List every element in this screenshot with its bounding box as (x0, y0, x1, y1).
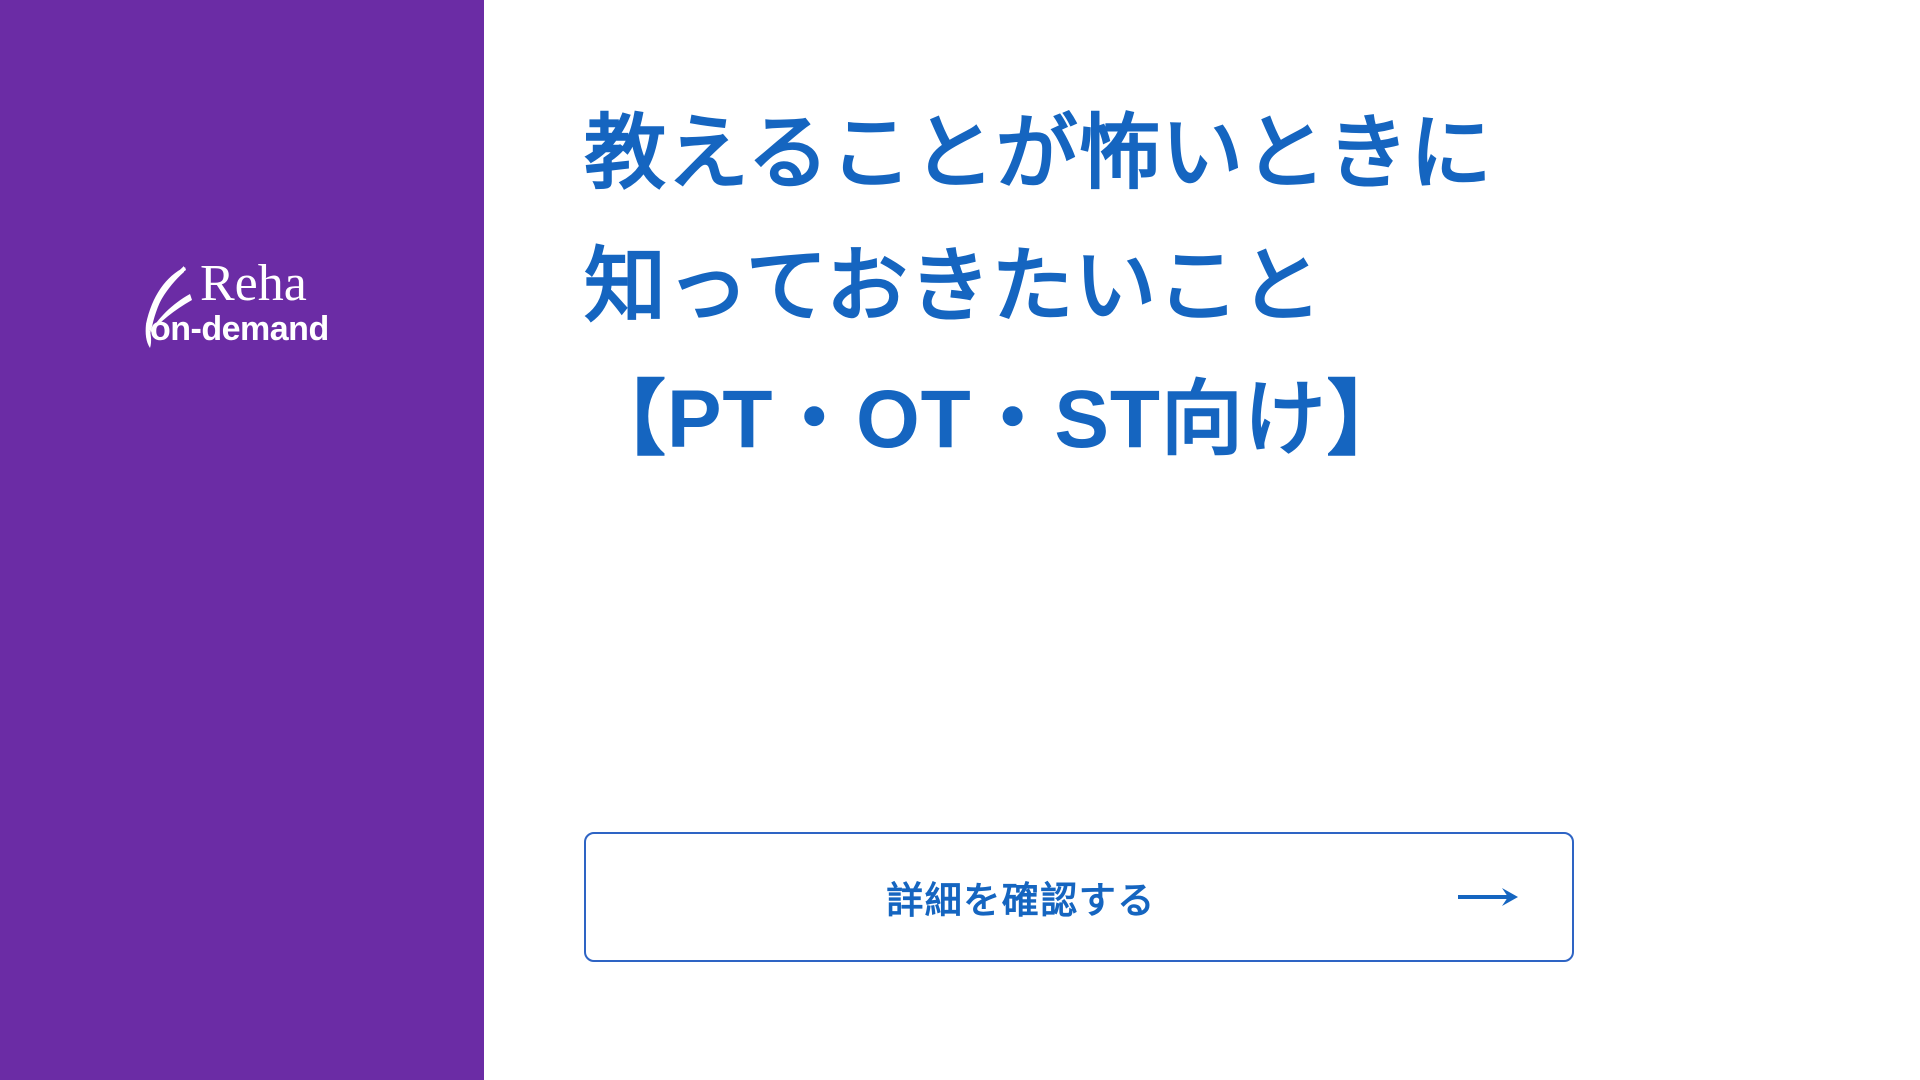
logo-tagline: on-demand (150, 310, 329, 348)
reha-on-demand-logo[interactable]: Reha on-demand (122, 248, 362, 368)
headline-line-2: 知っておきたいこと (584, 221, 1764, 354)
headline-line-3: 【PT・OT・ST向け】 (584, 354, 1764, 487)
brand-sidebar: Reha on-demand (0, 0, 484, 1080)
arrow-right-icon (1458, 885, 1520, 909)
details-button-label: 詳細を確認する (886, 870, 1155, 924)
page-title: 教えることが怖いときに 知っておきたいこと 【PT・OT・ST向け】 (584, 88, 1764, 486)
promo-banner: Reha on-demand 教えることが怖いときに 知っておきたいこと 【PT… (0, 0, 1920, 1080)
headline-line-1: 教えることが怖いときに (584, 88, 1764, 221)
cta-container: 詳細を確認する (584, 832, 1574, 962)
logo-brand-name: Reha (200, 255, 307, 312)
main-content: 教えることが怖いときに 知っておきたいこと 【PT・OT・ST向け】 詳細を確認… (484, 0, 1920, 1080)
logo-container[interactable]: Reha on-demand (0, 248, 484, 368)
logo-artwork: Reha on-demand (122, 248, 362, 368)
details-button[interactable]: 詳細を確認する (584, 832, 1574, 962)
